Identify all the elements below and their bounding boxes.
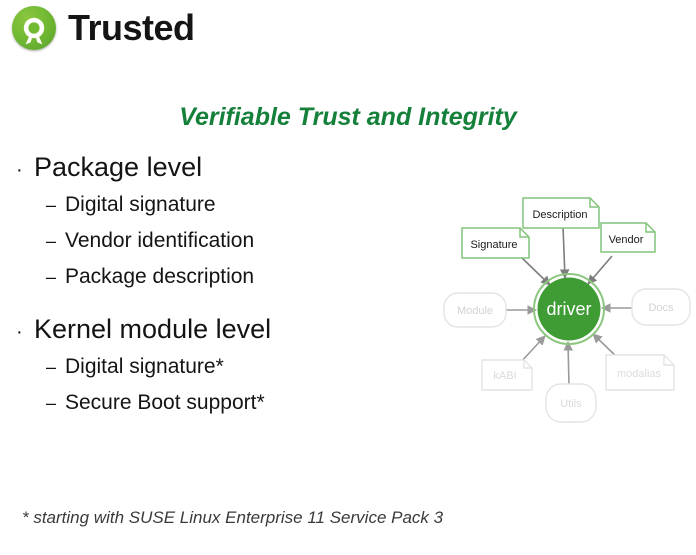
- arrow-vendor-to-driver: [588, 256, 612, 284]
- slide-header: Trusted: [12, 6, 195, 50]
- bullet-text: Package description: [65, 263, 254, 290]
- bullet-text: Digital signature*: [65, 353, 224, 380]
- arrow-kabi-to-driver: [520, 336, 545, 363]
- bullet-text: Vendor identification: [65, 227, 254, 254]
- bullet-marker-dash: –: [46, 196, 65, 214]
- bullet-marker-dash: –: [46, 268, 65, 286]
- slide-subtitle: Verifiable Trust and Integrity: [0, 103, 696, 132]
- page-title: Trusted: [68, 10, 195, 46]
- node-label: Signature: [470, 239, 517, 251]
- bullet-digital-signature: – Digital signature: [16, 191, 396, 218]
- bullet-marker-dash: –: [46, 232, 65, 250]
- diagram-node-vendor: Vendor: [601, 223, 655, 252]
- diagram-node-description: Description: [523, 198, 599, 228]
- bullet-text: Digital signature: [65, 191, 216, 218]
- node-label: Utils: [560, 398, 582, 410]
- arrow-utils-to-driver: [568, 342, 569, 386]
- node-label: Vendor: [609, 234, 644, 246]
- diagram-node-module: Module: [444, 293, 506, 327]
- bullet-text: Secure Boot support*: [65, 389, 265, 416]
- driver-hub-diagram: Module Docs kABI Utils modalias Descript…: [440, 190, 696, 430]
- node-label: driver: [546, 299, 591, 319]
- award-rosette-icon: [12, 6, 56, 50]
- bullet-group-spacer: [16, 299, 396, 312]
- diagram-node-docs: Docs: [632, 289, 690, 325]
- bullet-vendor-identification: – Vendor identification: [16, 227, 396, 254]
- bullet-text: Kernel module level: [34, 312, 271, 347]
- bullet-marker-dash: –: [46, 394, 65, 412]
- bullet-package-description: – Package description: [16, 263, 396, 290]
- bullet-marker-dot: ·: [16, 322, 34, 342]
- arrow-signature-to-driver: [522, 258, 550, 285]
- diagram-node-utils: Utils: [546, 384, 596, 422]
- node-label: kABI: [493, 370, 516, 382]
- node-label: Module: [457, 305, 493, 317]
- bullet-secure-boot-support: – Secure Boot support*: [16, 389, 396, 416]
- bullet-kernel-module-level: · Kernel module level: [16, 312, 396, 347]
- node-label: Docs: [648, 302, 674, 314]
- bullet-list: · Package level – Digital signature – Ve…: [16, 150, 396, 426]
- bullet-marker-dot: ·: [16, 160, 34, 180]
- bullet-package-level: · Package level: [16, 150, 396, 185]
- bullet-text: Package level: [34, 150, 202, 185]
- footnote: * starting with SUSE Linux Enterprise 11…: [22, 508, 443, 528]
- diagram-node-signature: Signature: [462, 228, 529, 258]
- bullet-digital-signature-footnoted: – Digital signature*: [16, 353, 396, 380]
- bullet-marker-dash: –: [46, 358, 65, 376]
- node-label: modalias: [617, 368, 662, 380]
- diagram-node-modalias: modalias: [606, 355, 674, 390]
- arrow-description-to-driver: [563, 226, 565, 278]
- diagram-node-kabi: kABI: [482, 360, 532, 390]
- diagram-node-driver: driver: [534, 274, 604, 344]
- node-label: Description: [532, 209, 587, 221]
